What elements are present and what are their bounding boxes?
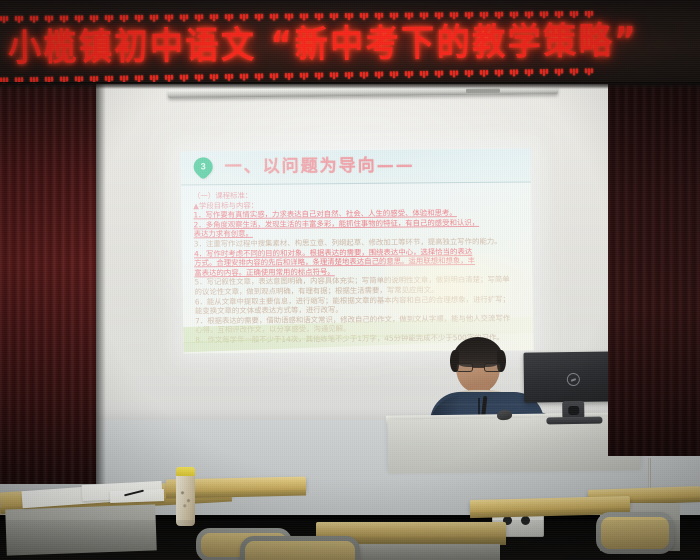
led-dot bbox=[495, 70, 497, 75]
led-dot bbox=[75, 15, 77, 20]
led-dot bbox=[246, 74, 248, 79]
led-dot bbox=[588, 68, 590, 75]
led-dot bbox=[513, 69, 515, 76]
led-dot-group bbox=[510, 69, 518, 76]
led-dot bbox=[381, 71, 383, 76]
led-dot bbox=[3, 16, 5, 23]
led-dot bbox=[366, 72, 368, 77]
led-banner-text: 小榄镇初中语文 “新中考下的教学策略” bbox=[8, 21, 639, 66]
led-dot bbox=[390, 71, 392, 76]
led-dot bbox=[36, 16, 38, 21]
led-dot bbox=[171, 15, 173, 20]
led-dot bbox=[276, 14, 278, 19]
led-dot bbox=[261, 73, 263, 78]
led-dot bbox=[306, 73, 308, 78]
roller-label bbox=[466, 89, 500, 93]
led-dot-group bbox=[465, 70, 473, 77]
curtain-right bbox=[608, 84, 700, 456]
led-dot bbox=[453, 70, 455, 77]
led-dot bbox=[375, 72, 377, 77]
led-dot bbox=[243, 74, 245, 81]
led-dot bbox=[456, 70, 458, 75]
led-dot bbox=[198, 74, 200, 81]
led-dot bbox=[141, 75, 143, 80]
led-dot bbox=[585, 68, 587, 73]
led-dot bbox=[573, 68, 575, 75]
led-dot bbox=[135, 75, 137, 80]
led-dot-group bbox=[360, 72, 368, 79]
monitor-base bbox=[546, 417, 602, 425]
led-dot bbox=[96, 15, 98, 20]
bottle-texture bbox=[178, 485, 193, 511]
led-dot-group bbox=[420, 71, 428, 78]
led-dot bbox=[111, 15, 113, 20]
led-dot-group bbox=[585, 68, 593, 75]
led-dot-group bbox=[540, 69, 548, 76]
banner-drop-shadow bbox=[0, 82, 700, 89]
led-dot bbox=[120, 15, 122, 20]
led-dot bbox=[75, 76, 77, 81]
led-dot bbox=[543, 69, 545, 76]
led-dot bbox=[285, 73, 287, 78]
led-dot bbox=[105, 15, 107, 20]
led-dot bbox=[270, 14, 272, 19]
led-dot bbox=[498, 70, 500, 77]
led-banner: 小榄镇初中语文 “新中考下的教学策略” bbox=[0, 0, 700, 84]
led-dot bbox=[363, 72, 365, 79]
led-dot-group bbox=[210, 74, 218, 81]
curtain-left-edge bbox=[96, 84, 106, 484]
led-dot bbox=[393, 71, 395, 78]
led-dot bbox=[486, 70, 488, 75]
led-dot-group bbox=[405, 71, 413, 78]
led-dot bbox=[501, 70, 503, 75]
led-dot bbox=[66, 76, 68, 81]
classroom-photo-scene: 3 一、以问题为导向—— （一）课程标准： ▲学段目标与内容： 1．写作要有真情… bbox=[0, 0, 700, 560]
led-dot bbox=[156, 75, 158, 80]
led-dot bbox=[570, 69, 572, 74]
led-dot bbox=[180, 75, 182, 80]
led-dot bbox=[21, 16, 23, 21]
led-dot bbox=[216, 74, 218, 79]
led-dot-group bbox=[450, 70, 458, 77]
led-dot-group bbox=[525, 69, 533, 76]
led-dot bbox=[408, 71, 410, 78]
led-dot bbox=[531, 69, 533, 74]
led-dot bbox=[561, 69, 563, 74]
led-dot bbox=[345, 72, 347, 77]
led-dot bbox=[540, 69, 542, 74]
led-dot bbox=[303, 73, 305, 80]
led-dot-group bbox=[285, 73, 293, 80]
led-dot bbox=[546, 69, 548, 74]
led-dot bbox=[321, 72, 323, 77]
led-dot-group bbox=[255, 73, 263, 80]
led-dot-group bbox=[165, 75, 173, 82]
led-dot bbox=[201, 74, 203, 79]
led-dot-group bbox=[195, 74, 203, 81]
led-dot bbox=[81, 15, 83, 20]
led-dot bbox=[30, 16, 32, 21]
led-dot-group bbox=[390, 71, 398, 78]
led-dot bbox=[96, 76, 98, 81]
led-dot bbox=[0, 16, 2, 21]
led-dot bbox=[210, 74, 212, 79]
led-dot bbox=[360, 72, 362, 77]
led-dot bbox=[60, 16, 62, 21]
led-dot bbox=[135, 15, 137, 20]
led-dot bbox=[186, 75, 188, 80]
led-dot bbox=[510, 69, 512, 74]
led-dot bbox=[195, 14, 197, 19]
led-dot bbox=[126, 15, 128, 20]
led-dot bbox=[180, 14, 182, 19]
led-dot bbox=[465, 70, 467, 75]
led-dot bbox=[225, 14, 227, 19]
led-dot-group bbox=[480, 70, 488, 77]
led-dot bbox=[186, 14, 188, 19]
led-dot bbox=[468, 70, 470, 77]
led-dot-group bbox=[315, 72, 323, 79]
led-dot bbox=[318, 72, 320, 79]
led-dot bbox=[126, 75, 128, 80]
led-dot bbox=[6, 16, 8, 21]
led-dot bbox=[51, 16, 53, 21]
led-dot-group bbox=[435, 71, 443, 78]
led-dot bbox=[231, 14, 233, 19]
led-dot bbox=[51, 77, 53, 82]
led-dot bbox=[171, 75, 173, 80]
led-dot-group bbox=[180, 75, 188, 82]
led-dot bbox=[66, 15, 68, 20]
led-dot bbox=[480, 70, 482, 75]
led-dot bbox=[105, 76, 107, 81]
led-dot bbox=[378, 72, 380, 79]
bottle-cap bbox=[176, 467, 195, 476]
led-dot bbox=[330, 72, 332, 77]
led-dot bbox=[45, 16, 47, 21]
led-dot bbox=[576, 68, 578, 73]
curtain-left bbox=[0, 84, 96, 484]
led-dot-group bbox=[555, 69, 563, 76]
led-dot bbox=[228, 74, 230, 81]
led-dot bbox=[240, 74, 242, 79]
led-dot bbox=[450, 70, 452, 75]
led-dot bbox=[240, 14, 242, 19]
led-dot bbox=[90, 15, 92, 20]
led-dot bbox=[273, 73, 275, 80]
led-dot bbox=[525, 69, 527, 74]
slide-number-text: 3 bbox=[201, 162, 206, 171]
led-dot bbox=[165, 15, 167, 20]
led-dot-group bbox=[375, 71, 383, 78]
led-dot bbox=[291, 73, 293, 78]
led-dot bbox=[276, 73, 278, 78]
led-dot bbox=[150, 75, 152, 80]
led-dot-group bbox=[495, 70, 503, 77]
led-dot-group bbox=[270, 73, 278, 80]
led-dot bbox=[81, 76, 83, 81]
led-dot bbox=[141, 15, 143, 20]
led-dot bbox=[348, 72, 350, 79]
led-dot bbox=[168, 75, 170, 82]
led-dot bbox=[120, 76, 122, 81]
led-dot bbox=[438, 71, 440, 78]
led-dot bbox=[111, 76, 113, 81]
led-dot bbox=[15, 16, 17, 21]
led-dot bbox=[351, 72, 353, 77]
led-dot-group bbox=[345, 72, 353, 79]
glasses-lens-left bbox=[456, 363, 473, 372]
led-dot bbox=[156, 15, 158, 20]
led-dot bbox=[300, 73, 302, 78]
led-dot bbox=[411, 71, 413, 76]
monitor-cable-hole bbox=[568, 406, 579, 415]
led-dot bbox=[255, 14, 257, 19]
led-dot bbox=[426, 71, 428, 76]
led-dot bbox=[516, 69, 518, 74]
led-dot bbox=[255, 73, 257, 78]
led-dot bbox=[225, 74, 227, 79]
led-dot bbox=[246, 14, 248, 19]
led-dot-group bbox=[570, 68, 578, 75]
led-dot bbox=[165, 75, 167, 80]
glasses-icon bbox=[456, 363, 501, 372]
led-dot bbox=[396, 71, 398, 76]
slide-title: 一、以问题为导向—— bbox=[225, 155, 415, 177]
led-dot bbox=[90, 76, 92, 81]
led-dot bbox=[405, 71, 407, 76]
led-dot bbox=[435, 71, 437, 76]
led-dot bbox=[150, 15, 152, 20]
led-dot bbox=[558, 69, 560, 76]
dell-logo-icon bbox=[567, 373, 580, 386]
led-dot-group bbox=[225, 74, 233, 81]
led-dot bbox=[471, 70, 473, 75]
led-dot bbox=[336, 72, 338, 77]
floor-shadow bbox=[0, 520, 700, 560]
led-dot bbox=[216, 14, 218, 19]
projected-slide: 3 一、以问题为导向—— （一）课程标准： ▲学段目标与内容： 1．写作要有真情… bbox=[180, 148, 533, 353]
led-dot bbox=[201, 14, 203, 19]
led-dot bbox=[555, 69, 557, 74]
led-dot bbox=[213, 74, 215, 81]
led-dot bbox=[441, 71, 443, 76]
led-dot bbox=[333, 72, 335, 79]
led-dot bbox=[261, 14, 263, 19]
led-dot bbox=[528, 69, 530, 76]
led-dot bbox=[423, 71, 425, 78]
led-dot bbox=[210, 14, 212, 19]
led-dot bbox=[483, 70, 485, 77]
led-banner-text-wrap: 小榄镇初中语文 “新中考下的教学策略” bbox=[8, 14, 699, 72]
led-dot bbox=[270, 73, 272, 78]
led-dot bbox=[315, 73, 317, 78]
glasses-bridge bbox=[473, 367, 484, 368]
led-dot bbox=[591, 68, 593, 73]
led-dot bbox=[60, 77, 62, 82]
led-dot-group bbox=[300, 73, 308, 80]
led-dot bbox=[288, 73, 290, 80]
led-dot bbox=[420, 71, 422, 76]
glasses-lens-right bbox=[484, 363, 501, 372]
led-dot bbox=[183, 75, 185, 82]
led-dot bbox=[258, 73, 260, 80]
led-dot bbox=[195, 74, 197, 79]
led-dot-group bbox=[240, 74, 248, 81]
led-dot bbox=[231, 74, 233, 79]
led-dot-group bbox=[330, 72, 338, 79]
